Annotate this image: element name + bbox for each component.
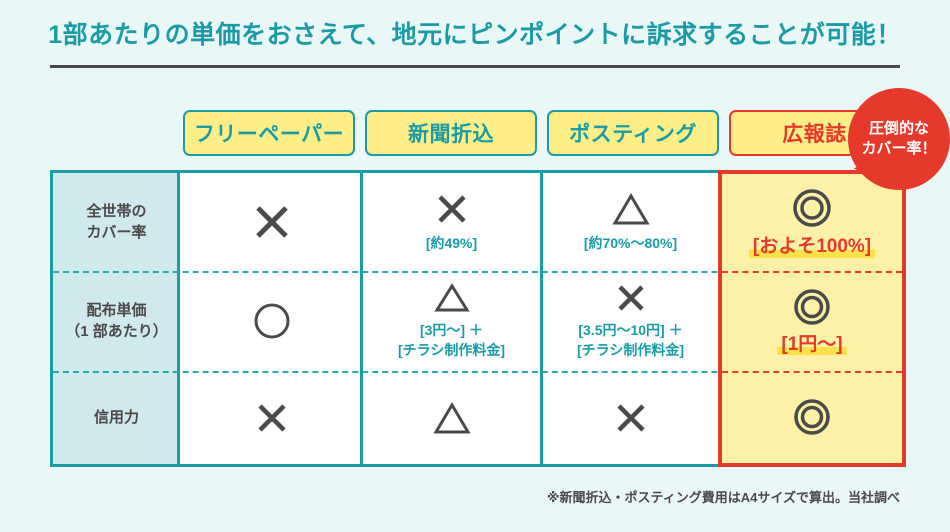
cross-icon — [434, 191, 470, 227]
triangle-icon — [432, 400, 472, 436]
row-label-credibility: 信用力 — [53, 371, 180, 464]
table-cell: [3円〜] ＋ [チラシ制作料金] — [363, 271, 540, 371]
cell-note: [3円〜] ＋ [チラシ制作料金] — [398, 320, 505, 361]
table-cell — [183, 271, 360, 371]
page-title: 1部あたりの単価をおさえて、地元にピンポイントに訴求することが可能！ — [0, 20, 950, 50]
column-header-posting[interactable]: ポスティング — [547, 110, 719, 156]
row-label-unit-price: 配布単価 （1 部あたり） — [53, 271, 180, 371]
cell-note-highlight: [およそ100%] — [749, 236, 875, 259]
triangle-icon — [433, 282, 471, 314]
circle-icon — [252, 301, 292, 341]
table-cell: [1円〜] — [722, 271, 902, 371]
table-cell — [543, 371, 718, 464]
title-divider — [50, 65, 900, 68]
double-circle-icon — [791, 286, 833, 328]
cross-icon — [614, 282, 648, 314]
cell-note: [約49%] — [426, 233, 477, 253]
comparison-table: 全世帯の カバー率 配布単価 （1 部あたり） 信用力 [約49%] [約70%… — [50, 170, 900, 467]
header-spacer — [50, 110, 180, 156]
cell-note: [3.5円〜10円] ＋ [チラシ制作料金] — [577, 320, 684, 361]
badge-line-1: 圧倒的な — [869, 119, 929, 139]
column-headers: フリーペーパー 新聞折込 ポスティング 広報誌 — [50, 110, 900, 156]
highlight-column-public-relations-magazine: [およそ100%] [1円〜] — [718, 170, 906, 467]
double-circle-icon — [791, 396, 833, 438]
page-title-container: 1部あたりの単価をおさえて、地元にピンポイントに訴求することが可能！ — [0, 20, 950, 50]
column-header-newspaper-insert[interactable]: 新聞折込 — [365, 110, 537, 156]
footnote: ※新聞折込・ポスティング費用はA4サイズで算出。当社調べ — [0, 487, 900, 506]
coverage-badge: 圧倒的な カバー率！ — [848, 88, 950, 190]
badge-circle: 圧倒的な カバー率！ — [848, 88, 950, 190]
table-cell: [約70%〜80%] — [543, 173, 718, 271]
table-cell: [3.5円〜10円] ＋ [チラシ制作料金] — [543, 271, 718, 371]
double-circle-icon — [790, 186, 834, 230]
table-cell — [363, 371, 540, 464]
row-label-coverage: 全世帯の カバー率 — [53, 173, 180, 271]
cell-note: [約70%〜80%] — [584, 233, 677, 253]
table-cell — [183, 173, 360, 271]
triangle-icon — [611, 191, 651, 227]
cell-note-highlight: [1円〜] — [777, 334, 846, 357]
table-cell — [722, 371, 902, 463]
table-cell: [約49%] — [363, 173, 540, 271]
column-header-free-paper[interactable]: フリーペーパー — [183, 110, 355, 156]
cross-icon — [613, 400, 649, 436]
table-cell — [183, 371, 360, 464]
badge-line-2: カバー率！ — [861, 139, 936, 159]
cross-icon — [251, 201, 293, 243]
cross-icon — [254, 400, 290, 436]
